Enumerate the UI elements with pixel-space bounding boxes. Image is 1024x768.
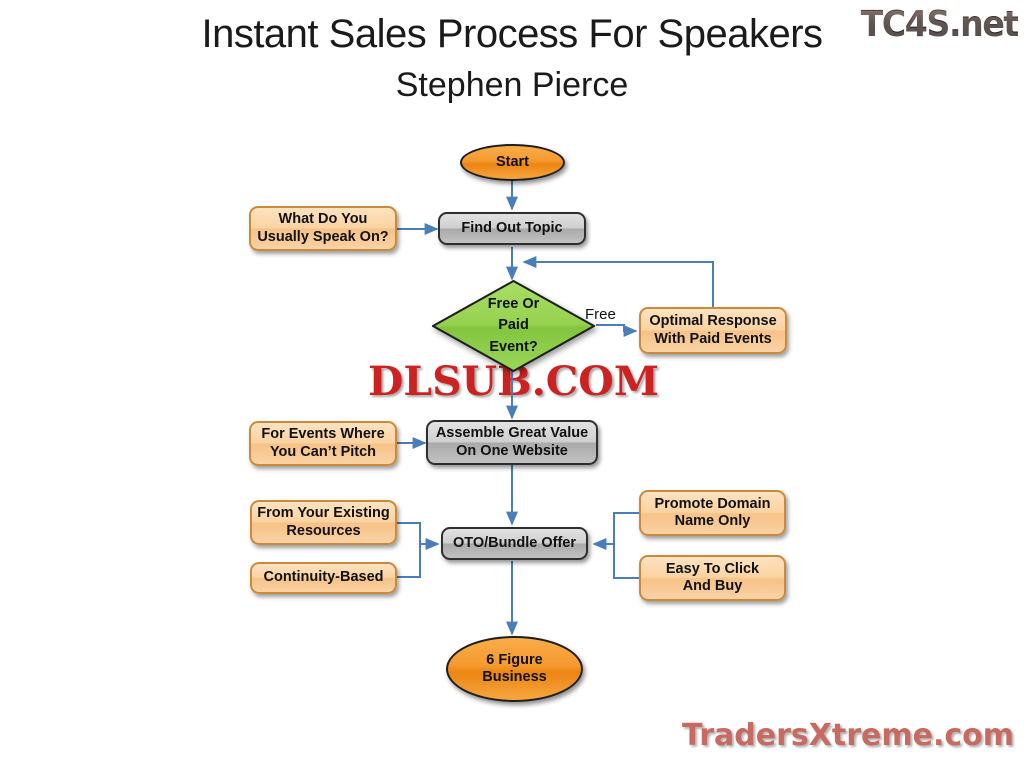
node-optimal-response-line2: With Paid Events — [654, 331, 772, 347]
node-easy-click-line2: And Buy — [683, 578, 743, 594]
edge-existing-resources-to-oto — [397, 523, 438, 544]
node-promote-domain-line2: Name Only — [675, 513, 751, 529]
node-start-label: Start — [492, 154, 533, 171]
node-optimal-response-line1: Optimal Response — [649, 313, 776, 329]
diamond-shape — [432, 280, 595, 372]
node-continuity-based[interactable]: Continuity-Based — [250, 562, 397, 594]
node-easy-to-click-and-buy[interactable]: Easy To Click And Buy — [639, 555, 786, 601]
node-start[interactable]: Start — [460, 144, 565, 181]
node-assemble-line2: On One Website — [456, 443, 568, 459]
node-what-do-you-usually-speak-on[interactable]: What Do You Usually Speak On? — [249, 206, 397, 251]
node-oto-bundle-offer-label: OTO/Bundle Offer — [449, 535, 580, 552]
edge-label-free: Free — [585, 306, 616, 323]
node-from-your-existing-resources[interactable]: From Your Existing Resources — [250, 500, 397, 545]
node-existing-resources-line1: From Your Existing — [257, 505, 389, 521]
node-free-or-paid-event[interactable]: Free Or Paid Event? — [432, 280, 595, 372]
node-continuity-based-label: Continuity-Based — [259, 569, 387, 586]
node-cant-pitch-line2: You Can’t Pitch — [270, 444, 376, 460]
slide-canvas: Instant Sales Process For Speakers Steph… — [0, 0, 1024, 768]
node-oto-bundle-offer[interactable]: OTO/Bundle Offer — [441, 527, 588, 560]
node-six-figure-line1: 6 Figure — [486, 652, 542, 668]
edge-easy-to-click-to-oto — [614, 544, 640, 578]
node-promote-domain-name-only[interactable]: Promote Domain Name Only — [639, 490, 786, 536]
node-find-out-topic[interactable]: Find Out Topic — [438, 212, 586, 245]
edge-continuity-to-oto — [397, 544, 420, 577]
node-easy-click-line1: Easy To Click — [666, 561, 759, 577]
node-promote-domain-line1: Promote Domain — [654, 496, 770, 512]
node-assemble-great-value-on-one-website[interactable]: Assemble Great Value On One Website — [426, 420, 598, 465]
edge-decision-free-to-optimal-response — [596, 325, 636, 331]
node-existing-resources-line2: Resources — [286, 523, 360, 539]
node-speak-on-line2: Usually Speak On? — [257, 229, 388, 245]
node-optimal-response-with-paid-events[interactable]: Optimal Response With Paid Events — [639, 307, 787, 354]
node-find-out-topic-label: Find Out Topic — [457, 220, 566, 237]
node-for-events-where-you-cant-pitch[interactable]: For Events Where You Can’t Pitch — [249, 421, 397, 466]
node-six-figure-business[interactable]: 6 Figure Business — [446, 636, 583, 702]
node-cant-pitch-line1: For Events Where — [261, 426, 384, 442]
node-speak-on-line1: What Do You — [279, 211, 368, 227]
node-six-figure-line2: Business — [482, 669, 546, 685]
edge-promote-domain-to-oto — [594, 513, 640, 544]
node-assemble-line1: Assemble Great Value — [436, 425, 588, 441]
